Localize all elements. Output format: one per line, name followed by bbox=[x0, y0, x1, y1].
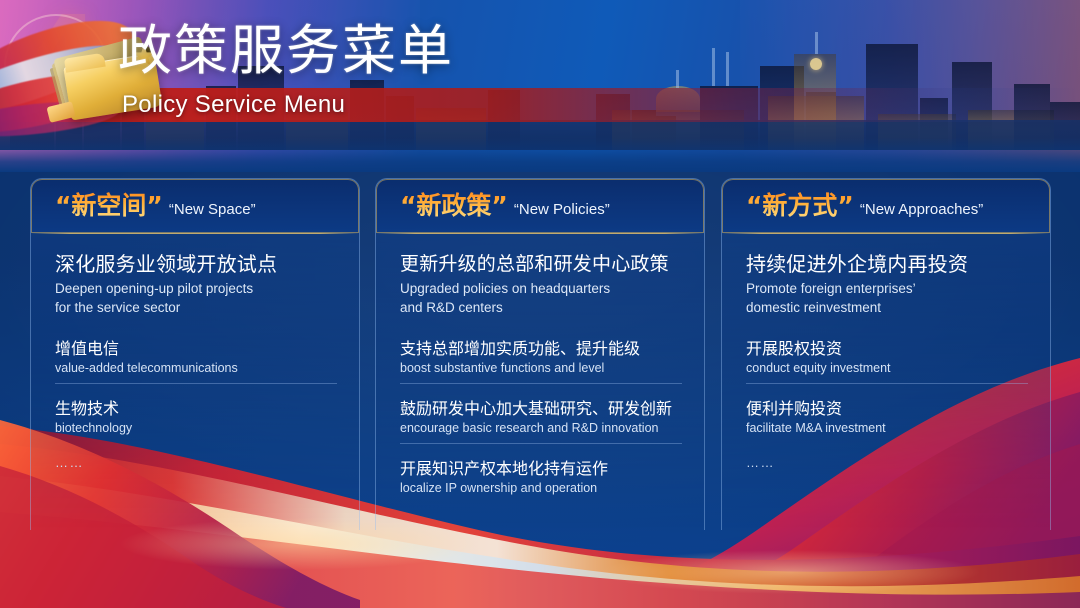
page-title-cn: 政策服务菜单 bbox=[118, 20, 454, 82]
card-lead-en-line2: domestic reinvestment bbox=[746, 299, 1028, 316]
card-ellipsis: …… bbox=[746, 455, 1028, 471]
header-banner: 4 政策服务菜单 Policy Service Menu bbox=[0, 0, 1080, 172]
item-label-en: value-added telecommunications bbox=[55, 360, 337, 376]
card-title-cn: “新政策” bbox=[400, 191, 508, 221]
item-label-cn: 开展股权投资 bbox=[746, 338, 1028, 360]
item-label-en: localize IP ownership and operation bbox=[400, 480, 682, 496]
item-label-cn: 开展知识产权本地化持有运作 bbox=[400, 458, 682, 480]
item-label-cn: 生物技术 bbox=[55, 398, 337, 420]
page-title-en: Policy Service Menu bbox=[122, 90, 345, 120]
list-item[interactable]: 生物技术 biotechnology bbox=[55, 398, 337, 443]
card-lead-cn: 持续促进外企境内再投资 bbox=[746, 251, 1028, 278]
card-body: 持续促进外企境内再投资 Promote foreign enterprises’… bbox=[722, 233, 1050, 471]
list-item[interactable]: 鼓励研发中心加大基础研究、研发创新 encourage basic resear… bbox=[400, 398, 682, 444]
item-label-en: biotechnology bbox=[55, 420, 337, 436]
card-ellipsis: …… bbox=[55, 455, 337, 471]
card-lead-cn: 更新升级的总部和研发中心政策 bbox=[400, 251, 682, 278]
slide-root: 4 政策服务菜单 Policy Service Menu “新空间” “New … bbox=[0, 0, 1080, 608]
card-title-en: “New Space” bbox=[169, 200, 256, 220]
item-label-cn: 鼓励研发中心加大基础研究、研发创新 bbox=[400, 398, 682, 420]
card-lead-en-line2: and R&D centers bbox=[400, 299, 682, 316]
item-label-en: boost substantive functions and level bbox=[400, 360, 682, 376]
list-item[interactable]: 支持总部增加实质功能、提升能级 boost substantive functi… bbox=[400, 338, 682, 384]
card-lead-cn: 深化服务业领域开放试点 bbox=[55, 251, 337, 278]
card-body: 深化服务业领域开放试点 Deepen opening-up pilot proj… bbox=[31, 233, 359, 471]
card-header: “新方式” “New Approaches” bbox=[722, 179, 1050, 233]
card-lead-en-line1: Upgraded policies on headquarters bbox=[400, 280, 682, 297]
list-item[interactable]: 开展知识产权本地化持有运作 localize IP ownership and … bbox=[400, 458, 682, 503]
card-title-cn: “新方式” bbox=[746, 191, 854, 221]
card-title-en: “New Approaches” bbox=[860, 200, 983, 220]
card-title-cn: “新空间” bbox=[55, 191, 163, 221]
card-header: “新政策” “New Policies” bbox=[376, 179, 704, 233]
policy-card-group: “新空间” “New Space” 深化服务业领域开放试点 Deepen ope… bbox=[0, 178, 1080, 538]
card-lead-en-line1: Promote foreign enterprises’ bbox=[746, 280, 1028, 297]
card-item-list: 支持总部增加实质功能、提升能级 boost substantive functi… bbox=[400, 338, 682, 503]
card-header: “新空间” “New Space” bbox=[31, 179, 359, 233]
card-item-list: 增值电信 value-added telecommunications 生物技术… bbox=[55, 338, 337, 443]
policy-card-new-policies[interactable]: “新政策” “New Policies” 更新升级的总部和研发中心政策 Upgr… bbox=[375, 178, 705, 530]
item-label-en: facilitate M&A investment bbox=[746, 420, 1028, 436]
card-body: 更新升级的总部和研发中心政策 Upgraded policies on head… bbox=[376, 233, 704, 503]
item-label-cn: 支持总部增加实质功能、提升能级 bbox=[400, 338, 682, 360]
list-item[interactable]: 开展股权投资 conduct equity investment bbox=[746, 338, 1028, 384]
list-item[interactable]: 便利并购投资 facilitate M&A investment bbox=[746, 398, 1028, 443]
card-item-list: 开展股权投资 conduct equity investment 便利并购投资 … bbox=[746, 338, 1028, 443]
card-lead-en-line2: for the service sector bbox=[55, 299, 337, 316]
item-label-en: encourage basic research and R&D innovat… bbox=[400, 420, 682, 436]
policy-card-new-space[interactable]: “新空间” “New Space” 深化服务业领域开放试点 Deepen ope… bbox=[30, 178, 360, 530]
policy-card-new-approaches[interactable]: “新方式” “New Approaches” 持续促进外企境内再投资 Promo… bbox=[721, 178, 1051, 530]
item-label-cn: 便利并购投资 bbox=[746, 398, 1028, 420]
item-label-en: conduct equity investment bbox=[746, 360, 1028, 376]
list-item[interactable]: 增值电信 value-added telecommunications bbox=[55, 338, 337, 384]
item-label-cn: 增值电信 bbox=[55, 338, 337, 360]
card-title-en: “New Policies” bbox=[514, 200, 610, 220]
card-lead-en-line1: Deepen opening-up pilot projects bbox=[55, 280, 337, 297]
